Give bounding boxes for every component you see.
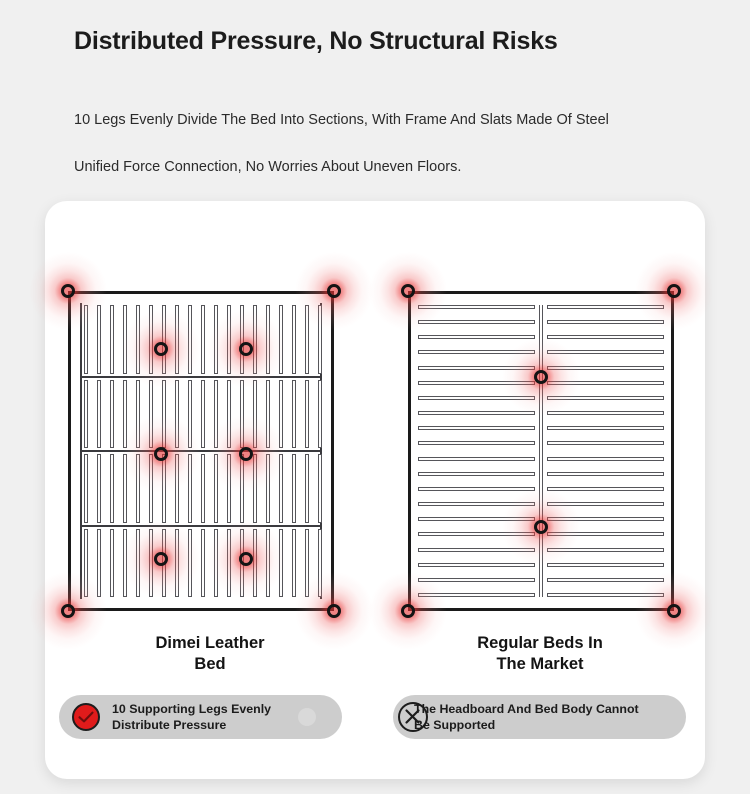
bed-slat [84, 380, 88, 449]
bed-slat [418, 457, 535, 461]
bed-slat [418, 563, 535, 567]
bed-caption-regular-line1: Regular Beds In [375, 633, 705, 654]
bed-slat [547, 441, 664, 445]
bed-slat [547, 411, 664, 415]
bed-slat-section [80, 452, 322, 525]
feature-pill-regular[interactable]: The Headboard And Bed Body Cannot Be Sup… [393, 695, 686, 739]
support-point-ring [667, 284, 681, 298]
bed-slat [305, 454, 309, 523]
support-point-ring [61, 604, 75, 618]
bed-slat [318, 380, 322, 449]
bed-slat [418, 578, 535, 582]
feature-pill-regular-line2: Be Supported [414, 717, 639, 733]
support-point-ring [667, 604, 681, 618]
support-point-ring [327, 604, 341, 618]
feature-pill-dimei[interactable]: 10 Supporting Legs Evenly Distribute Pre… [59, 695, 342, 739]
bed-slat [547, 426, 664, 430]
bed-slat [110, 529, 114, 598]
support-point-ring [154, 342, 168, 356]
support-point-ring [401, 284, 415, 298]
support-point-ring [534, 520, 548, 534]
support-point-ring [327, 284, 341, 298]
check-circle-icon [72, 703, 100, 731]
bed-slat [547, 320, 664, 324]
support-point-ring [154, 447, 168, 461]
bed-caption-dimei-line2: Bed [45, 654, 375, 675]
bed-slat [201, 305, 205, 374]
support-point-ring [239, 552, 253, 566]
support-point-ring [154, 552, 168, 566]
comparison-panel-dimei: Dimei Leather Bed 10 Supporting Legs Eve… [45, 201, 375, 779]
feature-pill-dimei-line2: Distribute Pressure [112, 717, 271, 733]
bed-slat [547, 472, 664, 476]
bed-caption-dimei-line1: Dimei Leather [45, 633, 375, 654]
bed-slat [292, 454, 296, 523]
bed-slat [418, 441, 535, 445]
bed-slat [418, 472, 535, 476]
subtitle-line-1: 10 Legs Evenly Divide The Bed Into Secti… [74, 112, 609, 128]
support-point-ring [239, 447, 253, 461]
bed-slat [110, 454, 114, 523]
feature-pill-dimei-line1: 10 Supporting Legs Evenly [112, 701, 271, 717]
bed-slat [84, 454, 88, 523]
bed-slat [292, 380, 296, 449]
bed-slat [418, 426, 535, 430]
comparison-panel-regular: Regular Beds In The Market The Headboard… [375, 201, 705, 779]
bed-slat [305, 380, 309, 449]
bed-slat [318, 454, 322, 523]
bed-slat [418, 335, 535, 339]
bed-slat [418, 487, 535, 491]
bed-slat [547, 563, 664, 567]
page-title: Distributed Pressure, No Structural Risk… [74, 27, 558, 56]
feature-pill-regular-line1: The Headboard And Bed Body Cannot [414, 701, 639, 717]
bed-slat [547, 578, 664, 582]
bed-slat-section [80, 378, 322, 451]
bed-slat [292, 529, 296, 598]
bed-slat [292, 305, 296, 374]
bed-slat [97, 454, 101, 523]
watermark-icon [298, 708, 316, 726]
bed-slat [201, 454, 205, 523]
bed-diagram-dimei [68, 291, 334, 611]
bed-slat [418, 411, 535, 415]
feature-pill-regular-text: The Headboard And Bed Body Cannot Be Sup… [414, 701, 639, 733]
subtitle-line-2: Unified Force Connection, No Worries Abo… [74, 159, 461, 175]
support-point-ring [239, 342, 253, 356]
bed-slat [547, 487, 664, 491]
support-point-ring [61, 284, 75, 298]
feature-pill-dimei-text: 10 Supporting Legs Evenly Distribute Pre… [112, 701, 271, 733]
bed-slat-section [80, 303, 322, 376]
bed-caption-regular: Regular Beds In The Market [375, 633, 705, 675]
bed-slat-section [80, 527, 322, 600]
comparison-card: Dimei Leather Bed 10 Supporting Legs Eve… [45, 201, 705, 779]
bed-slat [418, 320, 535, 324]
bed-slat [110, 305, 114, 374]
bed-caption-dimei: Dimei Leather Bed [45, 633, 375, 675]
bed-diagram-regular [408, 291, 674, 611]
bed-slat [110, 380, 114, 449]
bed-slat [201, 529, 205, 598]
support-point-ring [401, 604, 415, 618]
bed-slat [97, 380, 101, 449]
bed-slat [201, 380, 205, 449]
bed-slat [547, 457, 664, 461]
bed-slat [547, 335, 664, 339]
support-point-ring [534, 370, 548, 384]
bed-caption-regular-line2: The Market [375, 654, 705, 675]
